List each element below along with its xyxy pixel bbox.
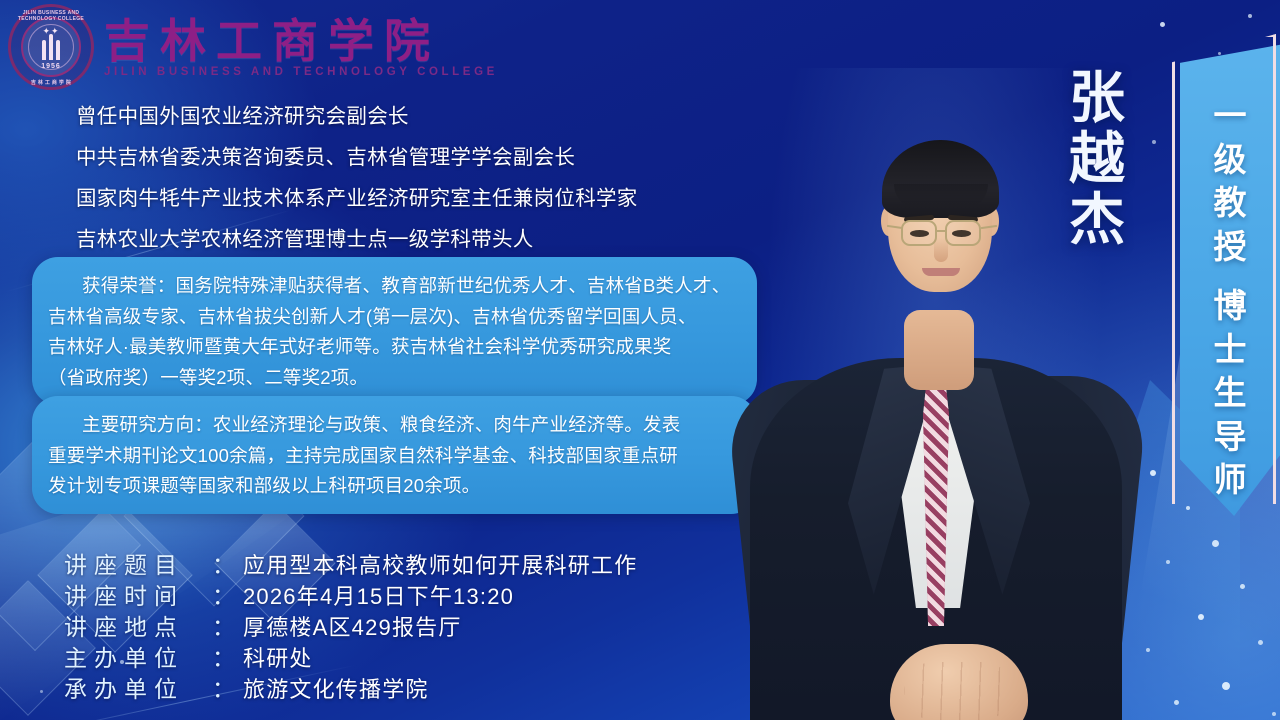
seal-chinese-text: 吉 林 工 商 学 院 — [8, 79, 94, 86]
credential-line: 国家肉牛牦牛产业技术体系产业经济研究室主任兼岗位科学家 — [76, 178, 716, 219]
honors-line: （省政府奖）一等奖2项、二等奖2项。 — [48, 363, 741, 394]
speaker-title-char: 师 — [1214, 458, 1247, 502]
info-colon: ： — [212, 670, 235, 704]
info-label: 讲座时间 — [64, 577, 212, 611]
lecture-info-row-organizer: 主办单位 ： 科研处 — [64, 639, 637, 670]
decor-dot — [1152, 140, 1156, 144]
speaker-name-vertical: 张 越 杰 — [1055, 70, 1139, 249]
decor-dot — [1146, 648, 1150, 652]
info-colon: ： — [212, 608, 235, 642]
lecture-info-row-location: 讲座地点 ： 厚德楼A区429报告厅 — [64, 608, 637, 639]
portrait-glasses-lens-left — [901, 220, 937, 246]
portrait-nose — [934, 238, 948, 262]
portrait-glasses-bridge — [937, 230, 947, 232]
info-colon: ： — [212, 577, 235, 611]
speaker-name-char: 杰 — [1069, 192, 1125, 249]
speaker-name-char: 张 — [1069, 70, 1125, 127]
portrait-neck — [904, 310, 974, 390]
info-value: 应用型本科高校教师如何开展科研工作 — [243, 548, 637, 580]
decor-dot — [1198, 614, 1204, 620]
decor-dot — [1240, 584, 1245, 589]
speaker-title-vertical: 一 级 教 授 博 士 生 导 师 — [1198, 94, 1262, 502]
info-colon: ： — [212, 546, 235, 580]
info-label: 讲座题目 — [64, 546, 212, 580]
speaker-title-char: 一 — [1214, 94, 1247, 138]
lecture-poster: JILIN BUSINESS AND TECHNOLOGY COLLEGE ✦✦… — [0, 0, 1280, 720]
university-name-block: 吉林工商学院 JILIN BUSINESS AND TECHNOLOGY COL… — [104, 18, 498, 79]
decor-dot — [1222, 682, 1230, 690]
decor-dot — [1272, 712, 1276, 716]
speaker-title-char: 博 — [1214, 284, 1247, 328]
portrait-glasses-lens-right — [945, 220, 981, 246]
university-header: JILIN BUSINESS AND TECHNOLOGY COLLEGE ✦✦… — [8, 4, 498, 90]
research-panel: 主要研究方向：农业经济理论与政策、粮食经济、肉牛产业经济等。发表 重要学术期刊论… — [32, 396, 757, 514]
speaker-title-char: 教 — [1214, 181, 1247, 225]
info-value: 科研处 — [243, 641, 313, 673]
honors-panel: 获得荣誉：国务院特殊津贴获得者、教育部新世纪优秀人才、吉林省B类人才、 吉林省高… — [32, 257, 757, 405]
research-line: 发计划专项课题等国家和部级以上科研项目20余项。 — [48, 471, 741, 502]
research-line: 主要研究方向：农业经济理论与政策、粮食经济、肉牛产业经济等。发表 — [48, 410, 741, 441]
lecture-info-block: 讲座题目 ： 应用型本科高校教师如何开展科研工作 讲座时间 ： 2026年4月1… — [64, 546, 637, 701]
speaker-title-char: 导 — [1214, 415, 1247, 459]
decor-dot — [1150, 470, 1156, 476]
honors-line: 获得荣誉：国务院特殊津贴获得者、教育部新世纪优秀人才、吉林省B类人才、 — [48, 271, 741, 302]
speaker-title-char: 授 — [1214, 225, 1247, 269]
honors-line: 吉林好人·最美教师暨黄大年式好老师等。获吉林省社会科学优秀研究成果奖 — [48, 332, 741, 363]
credential-line: 曾任中国外国农业经济研究会副会长 — [76, 96, 716, 137]
university-name-en: JILIN BUSINESS AND TECHNOLOGY COLLEGE — [104, 66, 498, 78]
honors-line: 吉林省高级专家、吉林省拔尖创新人才(第一层次)、吉林省优秀留学回国人员、 — [48, 302, 741, 333]
info-value: 2026年4月15日下午13:20 — [243, 579, 514, 611]
decor-dot — [1258, 640, 1263, 645]
credentials-list: 曾任中国外国农业经济研究会副会长 中共吉林省委决策咨询委员、吉林省管理学学会副会… — [76, 96, 716, 260]
decor-dot — [1166, 560, 1170, 564]
credential-line: 中共吉林省委决策咨询委员、吉林省管理学学会副会长 — [76, 137, 716, 178]
research-line: 重要学术期刊论文100余篇，主持完成国家自然科学基金、科技部国家重点研 — [48, 441, 741, 472]
speaker-name-char: 越 — [1069, 131, 1125, 188]
lecture-info-row-host: 承办单位 ： 旅游文化传播学院 — [64, 670, 637, 701]
speaker-title-char: 级 — [1214, 138, 1247, 182]
university-seal-logo: JILIN BUSINESS AND TECHNOLOGY COLLEGE ✦✦… — [8, 4, 94, 90]
decor-dot — [1160, 22, 1165, 27]
info-label: 主办单位 — [64, 639, 212, 673]
info-value: 旅游文化传播学院 — [243, 672, 429, 704]
seal-english-text: JILIN BUSINESS AND TECHNOLOGY COLLEGE — [8, 10, 94, 22]
lecture-info-row-title: 讲座题目 ： 应用型本科高校教师如何开展科研工作 — [64, 546, 637, 577]
university-name-cn: 吉林工商学院 — [104, 18, 498, 66]
decor-dot — [40, 690, 43, 693]
info-colon: ： — [212, 639, 235, 673]
speaker-title-ribbon: 一 级 教 授 博 士 生 导 师 — [1172, 34, 1280, 534]
credential-line: 吉林农业大学农林经济管理博士点一级学科带头人 — [76, 219, 716, 260]
decor-dot — [1248, 14, 1252, 18]
seal-torch-icon — [42, 34, 60, 60]
speaker-title-char: 士 — [1214, 328, 1247, 372]
info-value: 厚德楼A区429报告厅 — [243, 610, 462, 642]
portrait-mouth — [922, 268, 960, 276]
lecture-info-row-time: 讲座时间 ： 2026年4月15日下午13:20 — [64, 577, 637, 608]
seal-founding-year: 1956 — [8, 63, 94, 70]
info-label: 承办单位 — [64, 670, 212, 704]
decor-dot — [1174, 700, 1179, 705]
info-label: 讲座地点 — [64, 608, 212, 642]
speaker-title-char: 生 — [1214, 371, 1247, 415]
decor-dot — [1212, 540, 1219, 547]
